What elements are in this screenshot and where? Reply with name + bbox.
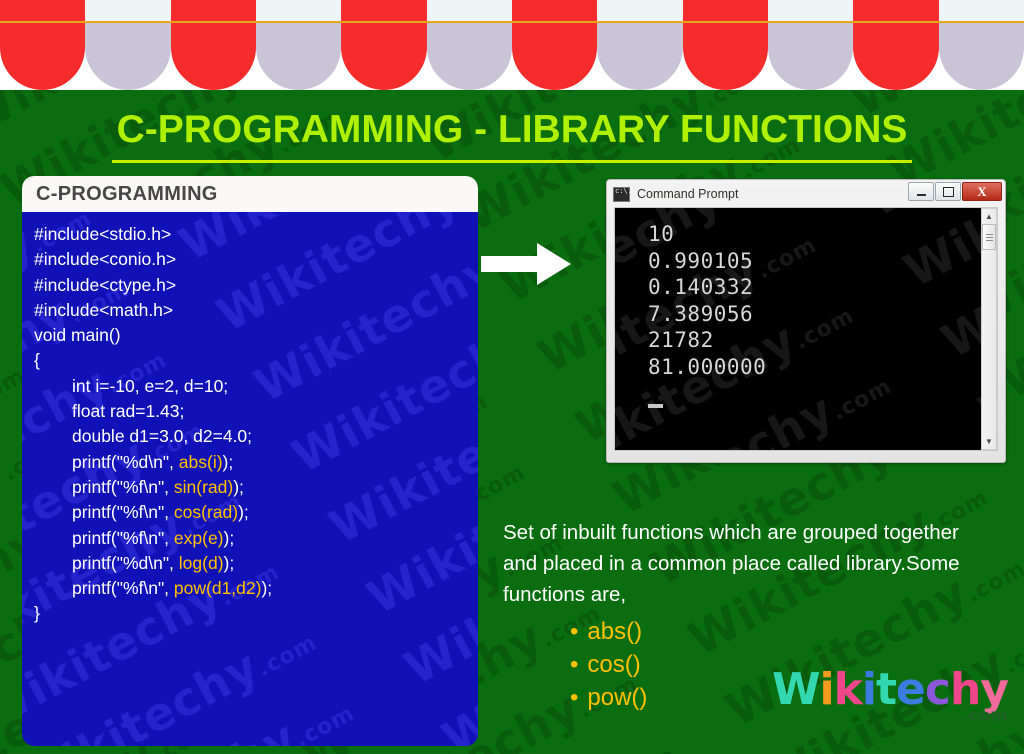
description-text: Set of inbuilt functions which are group… bbox=[503, 517, 993, 610]
code-listing: #include<stdio.h>#include<conio.h>#inclu… bbox=[22, 212, 478, 627]
awning-scallop bbox=[171, 0, 256, 90]
command-prompt-icon bbox=[613, 187, 630, 202]
code-function-call: sin(rad) bbox=[174, 477, 233, 497]
code-text: printf("%f\n", bbox=[72, 528, 174, 548]
code-line: printf("%f\n", pow(d1,d2)); bbox=[34, 576, 478, 601]
code-line: { bbox=[34, 348, 478, 373]
code-text: printf("%f\n", bbox=[72, 477, 174, 497]
watermark-text: Wikitechy.comWikitechy.comWikitechy.comW… bbox=[121, 654, 478, 746]
command-prompt-window[interactable]: Command Prompt X Wikitechy.comWikitechy.… bbox=[606, 179, 1006, 463]
page-title: C-PROGRAMMING - LIBRARY FUNCTIONS bbox=[0, 108, 1024, 152]
awning-scallop bbox=[85, 0, 170, 90]
logo-letter: t bbox=[876, 664, 896, 715]
watermark-text: Wikitechy.comWikitechy.comWikitechy.comW… bbox=[158, 725, 478, 746]
code-text: double d1=3.0, d2=4.0; bbox=[72, 426, 252, 446]
code-function-call: abs(i) bbox=[179, 452, 223, 472]
code-line: printf("%d\n", abs(i)); bbox=[34, 450, 478, 475]
minimize-button[interactable] bbox=[908, 182, 934, 201]
code-function-call: log(d) bbox=[179, 553, 224, 573]
function-bullet-list: •abs()•cos()•pow() bbox=[570, 615, 647, 714]
code-line: void main() bbox=[34, 323, 478, 348]
code-panel: C-PROGRAMMING Wikitechy.comWikitechy.com… bbox=[22, 176, 478, 746]
bullet-marker-icon: • bbox=[570, 618, 578, 645]
bullet-marker-icon: • bbox=[570, 651, 578, 678]
console-output: 100.9901050.1403327.3890562178281.000000 bbox=[615, 208, 997, 380]
maximize-button[interactable] bbox=[935, 182, 961, 201]
code-function-call: cos(rad) bbox=[174, 502, 238, 522]
logo-letter: W bbox=[772, 664, 820, 715]
awning-scallop bbox=[597, 0, 682, 90]
awning-scallop bbox=[341, 0, 426, 90]
console-output-line: 7.389056 bbox=[648, 301, 997, 328]
scrollbar-thumb[interactable] bbox=[982, 224, 996, 250]
code-panel-title: C-PROGRAMMING bbox=[36, 183, 218, 206]
code-text: } bbox=[34, 603, 40, 623]
scroll-down-icon[interactable]: ▼ bbox=[982, 434, 996, 449]
code-line: int i=-10, e=2, d=10; bbox=[34, 374, 478, 399]
awning-scallop bbox=[512, 0, 597, 90]
scroll-up-icon[interactable]: ▲ bbox=[982, 209, 996, 224]
logo-letter: k bbox=[834, 664, 862, 715]
code-text: ); bbox=[233, 477, 244, 497]
code-line: #include<ctype.h> bbox=[34, 273, 478, 298]
code-text: ); bbox=[261, 578, 272, 598]
code-text: #include<stdio.h> bbox=[34, 224, 171, 244]
code-text: printf("%d\n", bbox=[72, 553, 179, 573]
console-output-line: 0.990105 bbox=[648, 248, 997, 275]
close-button[interactable]: X bbox=[962, 182, 1002, 201]
function-bullet-item: •cos() bbox=[570, 648, 647, 681]
code-line: #include<stdio.h> bbox=[34, 222, 478, 247]
code-text: printf("%f\n", bbox=[72, 502, 174, 522]
code-line: double d1=3.0, d2=4.0; bbox=[34, 424, 478, 449]
awning-scallop bbox=[939, 0, 1024, 90]
code-text: #include<ctype.h> bbox=[34, 275, 176, 295]
awning-scallop bbox=[256, 0, 341, 90]
scrollbar-grip-icon bbox=[986, 234, 993, 241]
minimize-icon bbox=[917, 194, 926, 196]
wikitechy-logo[interactable]: Wikitechy .com bbox=[772, 668, 1008, 726]
console-cursor bbox=[648, 404, 663, 408]
logo-letter: e bbox=[896, 664, 925, 715]
bullet-label: abs() bbox=[587, 618, 642, 645]
code-text: ); bbox=[224, 528, 235, 548]
console-output-line: 21782 bbox=[648, 327, 997, 354]
awning-stripe-line bbox=[0, 21, 1024, 23]
logo-letter: i bbox=[820, 664, 834, 715]
console-output-line: 0.140332 bbox=[648, 274, 997, 301]
code-text: ); bbox=[238, 502, 249, 522]
title-underline bbox=[112, 160, 912, 163]
code-text: #include<conio.h> bbox=[34, 249, 176, 269]
bullet-label: cos() bbox=[587, 651, 640, 678]
code-text: printf("%f\n", bbox=[72, 578, 174, 598]
code-line: printf("%f\n", sin(rad)); bbox=[34, 475, 478, 500]
code-function-call: exp(e) bbox=[174, 528, 224, 548]
code-line: #include<conio.h> bbox=[34, 247, 478, 272]
page-title-block: C-PROGRAMMING - LIBRARY FUNCTIONS bbox=[0, 108, 1024, 163]
window-controls[interactable]: X bbox=[908, 182, 1002, 201]
console-scrollbar[interactable]: ▲ ▼ bbox=[981, 208, 997, 450]
bullet-label: pow() bbox=[587, 684, 647, 711]
logo-letter: i bbox=[862, 664, 876, 715]
code-text: int i=-10, e=2, d=10; bbox=[72, 376, 228, 396]
console-output-line: 10 bbox=[648, 221, 997, 248]
function-bullet-item: •abs() bbox=[570, 615, 647, 648]
code-function-call: pow(d1,d2) bbox=[174, 578, 262, 598]
awning-scallop bbox=[768, 0, 853, 90]
right-arrow-icon bbox=[481, 241, 571, 287]
code-text: printf("%d\n", bbox=[72, 452, 179, 472]
maximize-icon bbox=[943, 187, 954, 197]
awning-scallop bbox=[683, 0, 768, 90]
code-panel-header: C-PROGRAMMING bbox=[22, 176, 478, 212]
code-line: #include<math.h> bbox=[34, 298, 478, 323]
console-screen: Wikitechy.comWikitechy.comWikitechy.comW… bbox=[614, 207, 998, 451]
code-line: printf("%d\n", log(d)); bbox=[34, 551, 478, 576]
console-titlebar[interactable]: Command Prompt X bbox=[610, 183, 1002, 205]
code-line: } bbox=[34, 601, 478, 626]
watermark-text: Wikitechy.comWikitechy.comWikitechy.comW… bbox=[658, 380, 997, 450]
code-text: { bbox=[34, 350, 40, 370]
awning-scallops bbox=[0, 0, 1024, 90]
code-line: printf("%f\n", cos(rad)); bbox=[34, 500, 478, 525]
code-text: float rad=1.43; bbox=[72, 401, 184, 421]
awning-scallop bbox=[853, 0, 938, 90]
code-text: void main() bbox=[34, 325, 121, 345]
console-output-line: 81.000000 bbox=[648, 354, 997, 381]
code-text: #include<math.h> bbox=[34, 300, 173, 320]
close-icon: X bbox=[977, 185, 986, 198]
console-window-title: Command Prompt bbox=[637, 187, 738, 201]
code-panel-body: Wikitechy.comWikitechy.comWikitechy.comW… bbox=[22, 212, 478, 746]
awning-banner bbox=[0, 0, 1024, 90]
bullet-marker-icon: • bbox=[570, 684, 578, 711]
code-text: ); bbox=[224, 553, 235, 573]
awning-scallop bbox=[427, 0, 512, 90]
awning-scallop bbox=[0, 0, 85, 90]
code-line: float rad=1.43; bbox=[34, 399, 478, 424]
code-line: printf("%f\n", exp(e)); bbox=[34, 526, 478, 551]
logo-letter: c bbox=[925, 664, 950, 715]
code-text: ); bbox=[223, 452, 234, 472]
function-bullet-item: •pow() bbox=[570, 681, 647, 714]
